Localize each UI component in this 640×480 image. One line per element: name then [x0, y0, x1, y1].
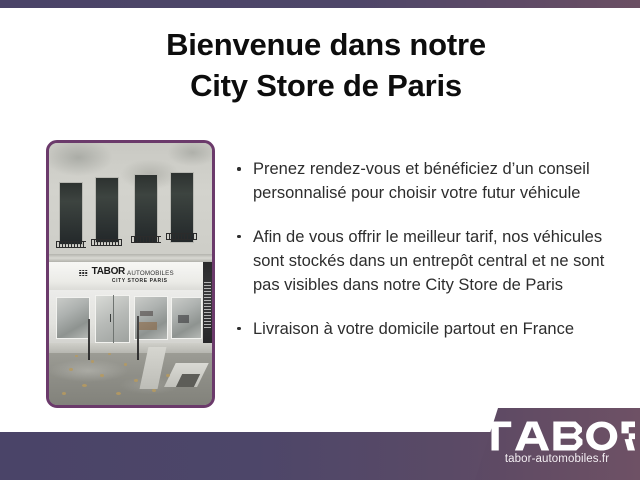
bullet-list: Prenez rendez-vous et bénéficiez d’un co… [234, 158, 630, 342]
shop-interior-object [140, 311, 153, 317]
list-item-text: Prenez rendez-vous et bénéficiez d’un co… [253, 160, 590, 202]
shop-window [56, 297, 90, 339]
fallen-leaf [82, 384, 87, 387]
tabor-logo-icon [479, 421, 635, 451]
bullet-dot-icon [237, 235, 241, 239]
brand-logo: tabor-automobiles.fr [474, 412, 640, 474]
storefront-sign-brand: TABOR [92, 267, 125, 277]
bullet-dot-icon [237, 327, 241, 331]
fallen-leaf [134, 379, 138, 382]
storefront-sign-subtitle: CITY STORE PARIS [112, 278, 168, 284]
shop-interior-object [178, 315, 189, 323]
shop-door-handle [110, 314, 112, 321]
balcony-railing [56, 241, 87, 248]
top-accent-strip [0, 0, 640, 8]
facade-window [170, 172, 194, 243]
shop-front [49, 290, 212, 345]
list-item-text: Livraison à votre domicile partout en Fr… [253, 320, 574, 338]
list-item-text: Afin de vous offrir le meilleur tarif, n… [253, 228, 604, 294]
list-item: Livraison à votre domicile partout en Fr… [234, 318, 630, 342]
shop-interior-desk [139, 322, 157, 331]
title-line-1: Bienvenue dans notre [100, 24, 552, 65]
bullet-dot-icon [237, 167, 241, 171]
fallen-leaf [62, 392, 66, 395]
storefront-sign-content: TABOR AUTOMOBILES CITY STORE PARIS [80, 267, 174, 284]
balcony-railing [131, 236, 162, 243]
list-item: Afin de vous offrir le meilleur tarif, n… [234, 226, 630, 298]
balcony-railing [166, 233, 197, 240]
storefront-photo-image: TABOR AUTOMOBILES CITY STORE PARIS [49, 143, 212, 405]
storefront-sign-dots-icon [80, 270, 88, 277]
shop-door-split [113, 295, 114, 342]
storefront-sign: TABOR AUTOMOBILES CITY STORE PARIS [49, 262, 212, 290]
storefront-sign-category: AUTOMOBILES [127, 271, 174, 277]
slide: Bienvenue dans notre City Store de Paris [0, 0, 640, 480]
fallen-leaf [108, 353, 111, 355]
page-title: Bienvenue dans notre City Store de Paris [100, 24, 552, 106]
street-bollard [88, 319, 90, 361]
list-item: Prenez rendez-vous et bénéficiez d’un co… [234, 158, 630, 206]
balcony-railing [91, 239, 122, 246]
storefront-photo: TABOR AUTOMOBILES CITY STORE PARIS [46, 140, 215, 408]
fallen-leaf [100, 374, 104, 377]
fallen-leaf [166, 374, 170, 377]
brand-url: tabor-automobiles.fr [505, 453, 609, 465]
shop-side-pillar-text [204, 282, 211, 329]
facade-window [95, 177, 119, 243]
fallen-leaf [116, 392, 121, 395]
facade-window [134, 174, 158, 242]
storefront-sign-main: TABOR AUTOMOBILES [80, 267, 174, 277]
title-line-2: City Store de Paris [100, 65, 552, 106]
street-bollard [137, 316, 139, 361]
facade-window [59, 182, 83, 245]
